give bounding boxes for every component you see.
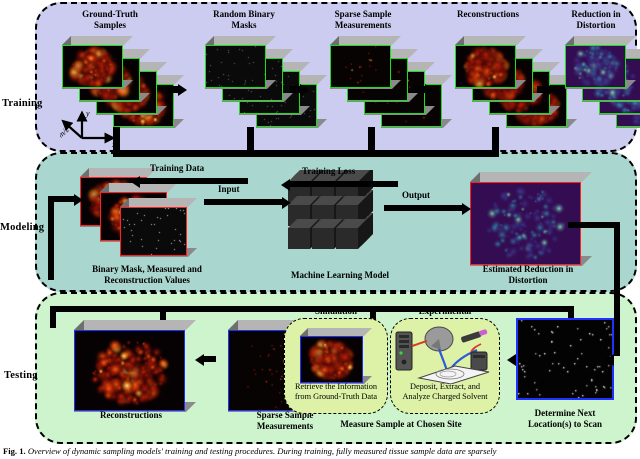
- slab-face: [74, 330, 185, 411]
- feedback-loop-vertical: [614, 306, 620, 356]
- arrow-shaft-training-1: [290, 86, 300, 93]
- simulation-caption: Retrieve the Information from Ground-Tru…: [286, 382, 386, 402]
- arrow-head-input: [282, 197, 291, 209]
- testing-determine-panel: [516, 318, 614, 400]
- feedback-loop-from-output: [568, 222, 620, 228]
- training-panel-reduction-in-distortion-1: [565, 36, 636, 89]
- experimental-caption: Deposit, Extract, and Analyze Charged So…: [390, 382, 500, 402]
- slab-image-dots: [121, 208, 186, 255]
- svg-text:y: y: [85, 109, 90, 118]
- testing-reconstructions-caption: Reconstructions: [72, 410, 190, 421]
- slab-image-sparse: [331, 46, 390, 87]
- caption-label: Fig. 1.: [3, 446, 28, 456]
- slab-face: [565, 45, 626, 88]
- arrow-shaft-training-data: [140, 178, 248, 184]
- modeling-output-panel: [470, 172, 592, 266]
- arrow-head-training-2: [425, 84, 434, 96]
- arrow-shaft-input: [204, 199, 282, 205]
- heading-random-binary-masks: Random Binary Masks: [196, 9, 292, 31]
- simulation-panel: [300, 328, 372, 384]
- experimental-apparatus: [393, 322, 497, 384]
- figure-root: TrainingModelingTestingGround-Truth Samp…: [0, 0, 640, 459]
- arrow-head-training-1: [300, 84, 309, 96]
- modeling-output-caption: Estimated Reduction in Distortion: [462, 264, 594, 286]
- slab-face: [300, 336, 363, 383]
- arrow-shaft-training-2: [415, 86, 425, 93]
- heading-ground-truth-samples: Ground-Truth Samples: [62, 9, 158, 31]
- connector-down-testing-0: [50, 306, 56, 328]
- heading-simulation: Simulation: [288, 306, 384, 316]
- slab-face: [470, 182, 581, 265]
- section-label-training: Training: [2, 98, 43, 109]
- modeling-model-caption: Machine Learning Model: [288, 270, 392, 281]
- arrow-head-recon: [195, 354, 204, 366]
- arrow-head-training-3: [547, 84, 556, 96]
- slab-image-mask: [206, 46, 265, 87]
- slab-face: [455, 45, 516, 88]
- heading-sparse-sample-measurements: Sparse Sample Measurements: [315, 9, 411, 31]
- modeling-input-caption: Binary Mask, Measured and Reconstruction…: [72, 264, 222, 286]
- section-label-testing: Testing: [4, 370, 38, 381]
- modeling-input-panel-3: [120, 198, 197, 257]
- heading-experimental: Experimental: [392, 306, 498, 316]
- arrow-head-training-data: [131, 176, 140, 188]
- training-panel-ground-truth-samples-1: [62, 36, 133, 89]
- training-panel-sparse-sample-measurements-1: [330, 36, 401, 89]
- slab-image-hot: [301, 337, 362, 382]
- training-panel-reconstructions-1: [455, 36, 526, 89]
- testing-determine-caption: Determine Next Location(s) to Scan: [512, 408, 618, 430]
- figure-caption: Fig. 1. Overview of dynamic sampling mod…: [3, 446, 637, 458]
- arrow-shaft-training-3: [537, 86, 547, 93]
- arrow-head-output: [462, 203, 471, 215]
- slab-face: [62, 45, 123, 88]
- training-panel-random-binary-masks-1: [205, 36, 276, 89]
- slab-image-hot: [63, 46, 122, 87]
- label-training-data: Training Data: [150, 163, 204, 173]
- slab-face: [330, 45, 391, 88]
- heading-reduction-in-distortion: Reduction in Distortion: [548, 9, 640, 31]
- slab-image-viridis: [566, 46, 625, 87]
- testing-measure-caption: Measure Sample at Chosen Site: [306, 419, 496, 430]
- slab-image-viridis: [471, 183, 580, 264]
- arrow-shaft-training-loss: [290, 181, 398, 187]
- connector-h-training: [113, 150, 499, 157]
- section-label-modeling: Modeling: [0, 222, 44, 233]
- heading-reconstructions: Reconstructions: [440, 9, 536, 20]
- determine-panel-image: [518, 320, 612, 398]
- label-input: Input: [218, 184, 240, 194]
- arrow-shaft-output: [384, 205, 462, 211]
- label-training-loss: Training Loss: [302, 166, 355, 176]
- testing-reconstruction-panel: [74, 320, 196, 412]
- label-output: Output: [402, 190, 430, 200]
- slab-image-hot: [456, 46, 515, 87]
- feedback-loop-head: [605, 354, 614, 366]
- slab-face: [205, 45, 266, 88]
- slab-image-hot: [75, 331, 184, 410]
- feedback-loop-right: [614, 222, 620, 310]
- arrow-head-measure: [507, 354, 516, 366]
- slab-face: [120, 207, 187, 256]
- arrow-shaft-training-0: [168, 86, 178, 93]
- arrow-head-into-input: [74, 194, 83, 206]
- arrow-shaft-recon: [204, 356, 216, 362]
- caption-text: Overview of dynamic sampling models' tra…: [28, 446, 497, 456]
- arrow-head-training-loss: [281, 179, 290, 191]
- arrow-head-training-0: [178, 84, 187, 96]
- arrow-shaft-loop-left: [48, 196, 54, 280]
